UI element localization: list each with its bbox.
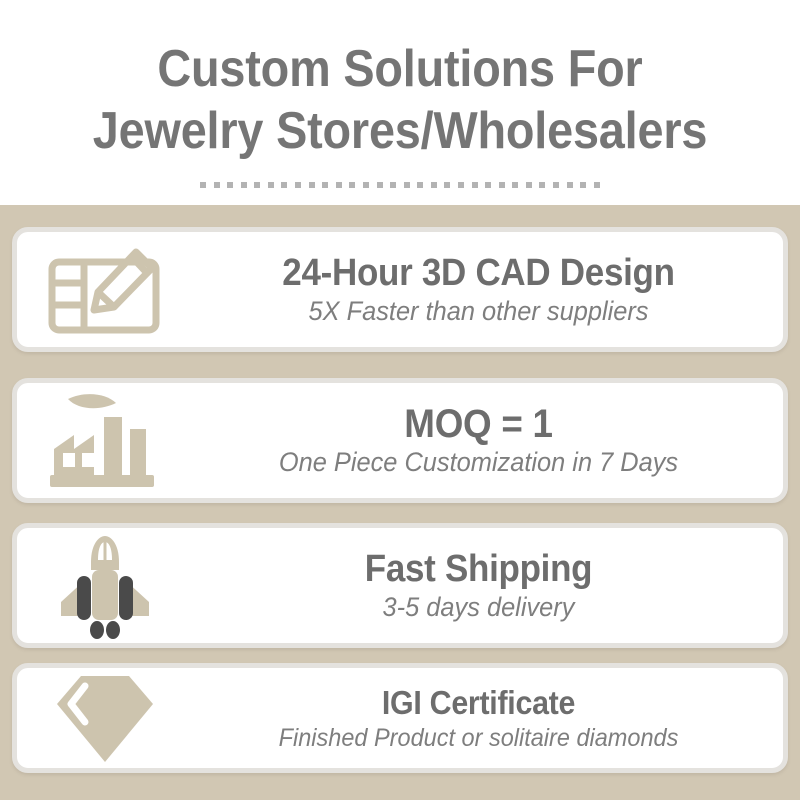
separator-dot	[322, 182, 328, 188]
feature-subtitle: One Piece Customization in 7 Days	[209, 446, 748, 478]
feature-card-certificate[interactable]: IGI Certificate Finished Product or soli…	[12, 663, 788, 773]
separator-dot	[404, 182, 410, 188]
diamond-icon	[17, 668, 192, 768]
separator-dot	[458, 182, 464, 188]
separator-dot	[431, 182, 437, 188]
separator-dot	[254, 182, 260, 188]
separator-dot	[214, 182, 220, 188]
feature-card-cad-design[interactable]: 24-Hour 3D CAD Design 5X Faster than oth…	[12, 227, 788, 352]
features-panel: 24-Hour 3D CAD Design 5X Faster than oth…	[0, 205, 800, 800]
feature-text-cad-design: 24-Hour 3D CAD Design 5X Faster than oth…	[192, 252, 783, 327]
separator-dot	[309, 182, 315, 188]
feature-title: MOQ = 1	[215, 403, 742, 445]
separator-dot	[349, 182, 355, 188]
space-shuttle-icon	[17, 528, 192, 643]
feature-title: Fast Shipping	[215, 548, 742, 590]
factory-icon	[17, 383, 192, 498]
separator-dot	[227, 182, 233, 188]
separator-dot	[512, 182, 518, 188]
feature-card-shipping[interactable]: Fast Shipping 3-5 days delivery	[12, 523, 788, 648]
separator-dot	[336, 182, 342, 188]
separator-dot	[526, 182, 532, 188]
feature-text-certificate: IGI Certificate Finished Product or soli…	[192, 684, 783, 753]
separator-dot	[444, 182, 450, 188]
separator-dot	[377, 182, 383, 188]
separator-dot	[200, 182, 206, 188]
headline-line-2: Jewelry Stores/Wholesalers	[40, 100, 760, 162]
separator-dot	[390, 182, 396, 188]
separator-dot	[594, 182, 600, 188]
header-section: Custom Solutions For Jewelry Stores/Whol…	[0, 0, 800, 205]
feature-text-shipping: Fast Shipping 3-5 days delivery	[192, 548, 783, 623]
separator-dot	[485, 182, 491, 188]
separator-dot	[295, 182, 301, 188]
separator-dot	[499, 182, 505, 188]
headline-line-1: Custom Solutions For	[40, 38, 760, 100]
separator-dot	[567, 182, 573, 188]
separator-dot	[281, 182, 287, 188]
feature-card-moq[interactable]: MOQ = 1 One Piece Customization in 7 Day…	[12, 378, 788, 503]
separator-dot	[472, 182, 478, 188]
drawing-tablet-stylus-icon	[17, 232, 192, 347]
feature-text-moq: MOQ = 1 One Piece Customization in 7 Day…	[192, 403, 783, 478]
separator-dot	[417, 182, 423, 188]
feature-subtitle: 5X Faster than other suppliers	[209, 295, 748, 327]
separator-dot	[241, 182, 247, 188]
feature-subtitle: Finished Product or solitaire diamonds	[209, 723, 748, 753]
feature-title: 24-Hour 3D CAD Design	[215, 252, 742, 294]
separator-dot	[580, 182, 586, 188]
promo-banner: Custom Solutions For Jewelry Stores/Whol…	[0, 0, 800, 800]
separator-dot	[268, 182, 274, 188]
feature-title: IGI Certificate	[215, 684, 742, 722]
separator-dot	[363, 182, 369, 188]
separator-dot	[539, 182, 545, 188]
feature-subtitle: 3-5 days delivery	[209, 591, 748, 623]
separator-dot	[553, 182, 559, 188]
dotted-separator	[200, 181, 600, 188]
